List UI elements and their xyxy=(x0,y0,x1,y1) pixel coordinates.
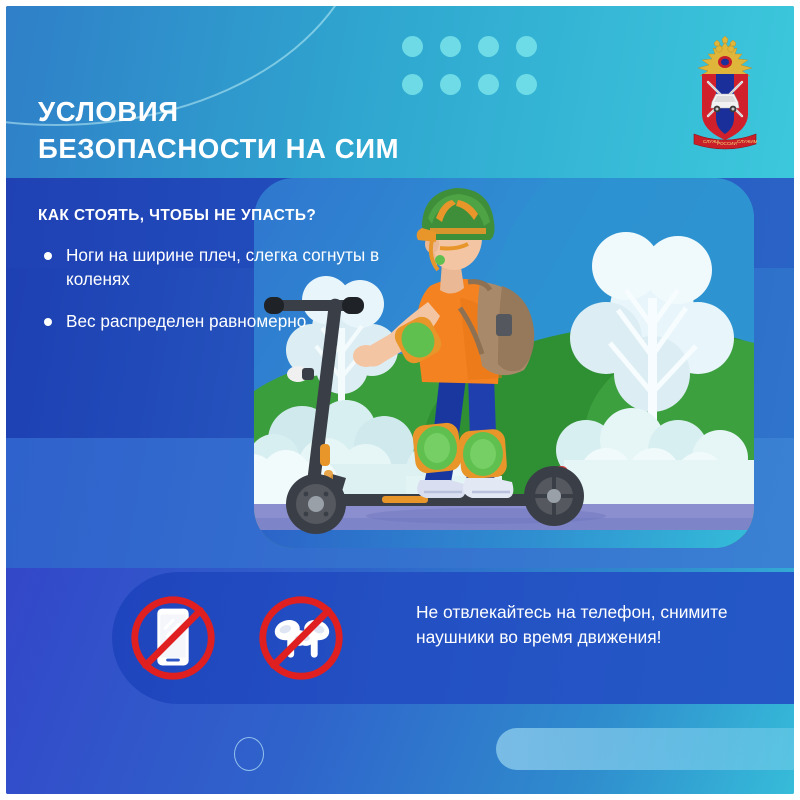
page-title: УСЛОВИЯ БЕЗОПАСНОСТИ НА СИМ xyxy=(38,94,558,167)
emblem-banner-right: СЛУЖИМ xyxy=(737,139,758,144)
knee-pads xyxy=(412,422,508,480)
header-band: СЛУЖА РОССИИ СЛУЖИМ УСЛОВИЯ БЕЗОПАСНОСТИ… xyxy=(6,6,794,178)
decorative-bar xyxy=(496,728,794,770)
poster-canvas: СЛУЖА РОССИИ СЛУЖИМ УСЛОВИЯ БЕЗОПАСНОСТИ… xyxy=(6,6,794,794)
rider-front-shoe xyxy=(463,478,513,498)
decor-dot xyxy=(478,74,499,95)
decor-dot xyxy=(516,74,537,95)
rider-and-scooter xyxy=(254,178,754,548)
backpack-pocket xyxy=(496,314,512,336)
rider-rear-shoe xyxy=(417,480,465,498)
decor-dot xyxy=(516,36,537,57)
decorative-ring xyxy=(234,737,264,771)
list-item: Вес распределен равномерно xyxy=(38,310,438,334)
decor-dot xyxy=(478,36,499,57)
warning-text: Не отвлекайтесь на телефон, снимите науш… xyxy=(416,600,746,649)
infographic-poster: СЛУЖА РОССИИ СЛУЖИМ УСЛОВИЯ БЕЗОПАСНОСТИ… xyxy=(0,0,800,800)
safety-tips-list: Ноги на ширине плеч, слегка согнуты в ко… xyxy=(38,244,438,353)
title-line-2: БЕЗОПАСНОСТИ НА СИМ xyxy=(38,131,558,168)
decor-dot xyxy=(402,36,423,57)
decor-dot xyxy=(440,36,461,57)
title-line-1: УСЛОВИЯ xyxy=(38,96,179,127)
no-phone-icon xyxy=(124,589,222,687)
emblem-banner-center: РОССИИ xyxy=(717,141,737,146)
gibdd-police-emblem-icon: СЛУЖА РОССИИ СЛУЖИМ xyxy=(692,34,758,150)
decor-dot xyxy=(440,74,461,95)
no-earbuds-icon xyxy=(252,589,350,687)
deck-reflector xyxy=(382,496,428,503)
scooter-rider-illustration xyxy=(254,178,754,548)
section-subtitle: КАК СТОЯТЬ, ЧТОБЫ НЕ УПАСТЬ? xyxy=(38,206,428,226)
decor-dot xyxy=(402,74,423,95)
list-item: Ноги на ширине плеч, слегка согнуты в ко… xyxy=(38,244,438,291)
